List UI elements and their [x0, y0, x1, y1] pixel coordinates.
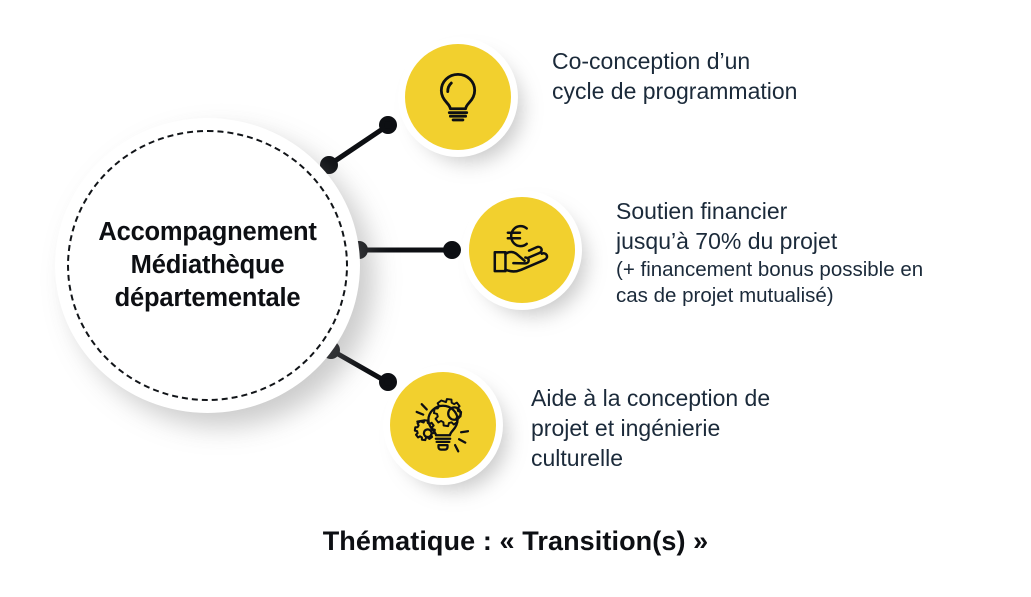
hand-euro-icon: [491, 221, 553, 279]
connector-dot-branch-top: [382, 119, 395, 132]
branch-text-3: Aide à la conception de projet et ingéni…: [531, 384, 770, 474]
branch-1-line-1: Co-conception d’un: [552, 47, 797, 77]
diagram-canvas: Accompagnement Médiathèque départemental…: [0, 0, 1031, 597]
connector-dot-branch-middle: [446, 244, 459, 257]
hub-label-line-3: départementale: [115, 282, 301, 315]
branch-1-line-2: cycle de programmation: [552, 77, 797, 107]
branch-icon-bubble-3[interactable]: [390, 372, 496, 478]
branch-2-line-3: (+ financement bonus possible en: [616, 257, 923, 284]
branch-icon-bubble-1[interactable]: [405, 44, 511, 150]
branch-3-line-1: Aide à la conception de: [531, 384, 770, 414]
lightbulb-gears-icon: [411, 394, 475, 456]
branch-icon-bubble-2[interactable]: [469, 197, 575, 303]
central-hub: Accompagnement Médiathèque départemental…: [55, 118, 360, 413]
branch-3-line-2: projet et ingénierie: [531, 414, 770, 444]
lightbulb-icon: [429, 68, 487, 126]
connector-dot-branch-bottom: [382, 376, 395, 389]
branch-2-line-1: Soutien financier: [616, 197, 923, 227]
branch-text-1: Co-conception d’un cycle de programmatio…: [552, 47, 797, 107]
hub-label-line-2: Médiathèque: [131, 249, 285, 282]
hub-label: Accompagnement Médiathèque départemental…: [55, 118, 360, 413]
branch-2-line-2: jusqu’à 70% du projet: [616, 227, 923, 257]
branch-2-line-4: cas de projet mutualisé): [616, 283, 923, 310]
hub-label-line-1: Accompagnement: [98, 216, 316, 249]
footer-caption: Thématique : « Transition(s) »: [0, 526, 1031, 557]
branch-3-line-3: culturelle: [531, 444, 770, 474]
branch-text-2: Soutien financier jusqu’à 70% du projet …: [616, 197, 923, 310]
